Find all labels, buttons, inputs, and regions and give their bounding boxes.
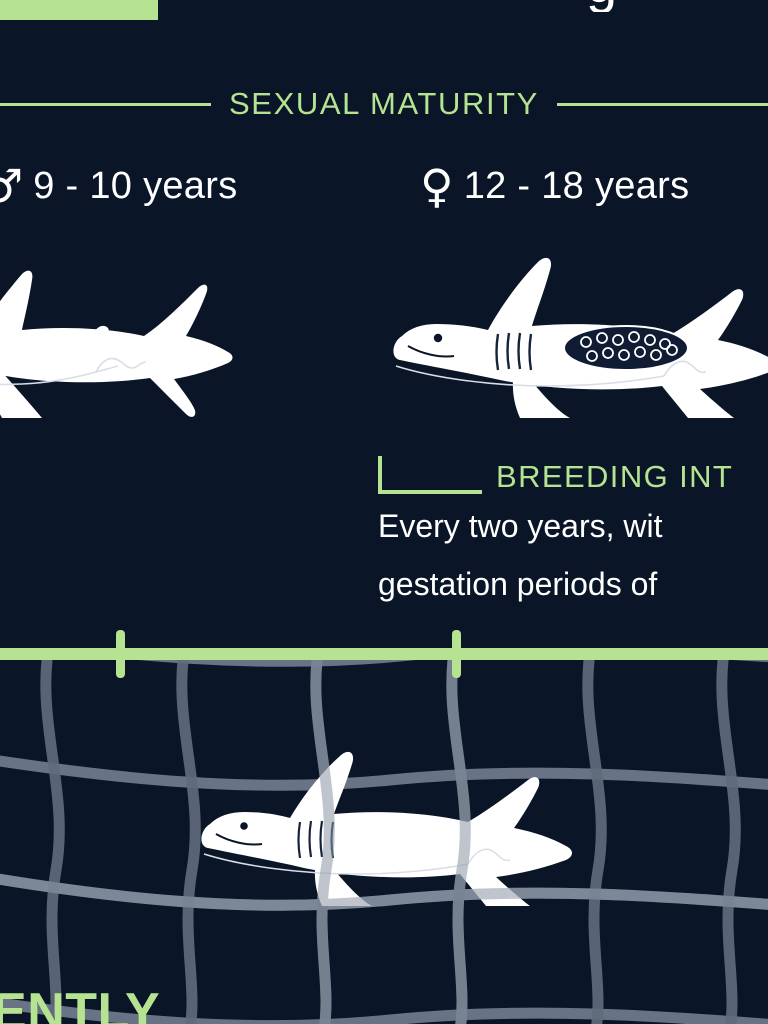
shark-eye bbox=[434, 334, 442, 342]
timeline-tick-2 bbox=[452, 630, 461, 678]
male-maturity-value: 9 - 10 years bbox=[33, 158, 237, 214]
timeline-tick-1 bbox=[116, 630, 125, 678]
section-title-text: SEXUAL MATURITY bbox=[229, 86, 539, 122]
shark-body-female bbox=[393, 258, 768, 418]
fishing-net-scene bbox=[0, 660, 768, 1024]
uterus-with-embryos bbox=[564, 326, 688, 370]
breeding-interval-callout: BREEDING INT Every two years, wit gestat… bbox=[378, 452, 768, 610]
top-accent-bar bbox=[0, 0, 158, 20]
bottom-headline: UENTLY bbox=[0, 986, 768, 1024]
elbow-vertical-segment bbox=[378, 456, 382, 492]
male-shark-illustration bbox=[0, 248, 302, 418]
header-rule-right bbox=[557, 103, 768, 106]
clipped-text-fragment: g bbox=[586, 0, 646, 12]
breeding-interval-line-2: gestation periods of bbox=[378, 558, 768, 610]
maturity-values-row: ♂ 9 - 10 years ♀ 12 - 18 years bbox=[0, 158, 768, 230]
bottom-headline-green-fragment: UENTLY bbox=[0, 986, 160, 1024]
infographic-panel: g SEXUAL MATURITY ♂ 9 - 10 years ♀ 12 - … bbox=[0, 0, 768, 1024]
elbow-connector-icon bbox=[378, 456, 482, 494]
section-header-sexual-maturity: SEXUAL MATURITY bbox=[0, 84, 768, 124]
shark-body-male bbox=[0, 271, 233, 418]
female-maturity-value: 12 - 18 years bbox=[464, 158, 690, 214]
breeding-interval-title: BREEDING INT bbox=[496, 460, 733, 494]
elbow-horizontal-segment bbox=[378, 490, 482, 494]
shark-eye bbox=[240, 822, 248, 830]
female-shark-illustration bbox=[388, 248, 768, 418]
header-rule-left bbox=[0, 103, 211, 106]
breeding-interval-line-1: Every two years, wit bbox=[378, 500, 768, 552]
maturity-entry-female: ♀ 12 - 18 years bbox=[420, 158, 689, 214]
female-symbol-icon: ♀ bbox=[420, 158, 454, 214]
male-symbol-icon: ♂ bbox=[0, 158, 23, 214]
maturity-entry-male: ♂ 9 - 10 years bbox=[0, 158, 238, 214]
breeding-interval-header: BREEDING INT bbox=[378, 452, 768, 494]
